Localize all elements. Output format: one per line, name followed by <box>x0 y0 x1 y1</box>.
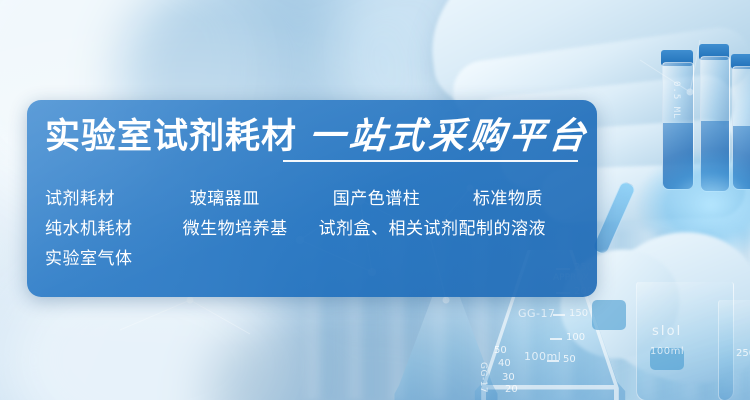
headline-underline <box>283 160 578 162</box>
category-item-lab-gases[interactable]: 实验室气体 <box>45 247 200 271</box>
headline-main-text: 实验室试剂耗材 <box>45 115 297 159</box>
banner-headline: 实验室试剂耗材 一站式采购平台 <box>45 114 589 159</box>
category-row-1: 试剂耗材 玻璃器皿 国产色谱柱 标准物质 <box>45 184 585 214</box>
category-item-reagent-consumables[interactable]: 试剂耗材 <box>45 187 190 211</box>
category-row-2: 纯水机耗材 微生物培养基 试剂盒、相关试剂配制的溶液 <box>45 214 585 244</box>
category-item-glassware[interactable]: 玻璃器皿 <box>190 187 333 211</box>
category-item-domestic-chromatography-column[interactable]: 国产色谱柱 <box>333 187 473 211</box>
category-item-microbial-culture-media[interactable]: 微生物培养基 <box>183 217 319 241</box>
headline-script-text: 一站式采购平台 <box>307 114 592 158</box>
category-grid: 试剂耗材 玻璃器皿 国产色谱柱 标准物质 纯水机耗材 微生物培养基 试剂盒、相关… <box>45 184 585 274</box>
category-item-water-purifier-consumables[interactable]: 纯水机耗材 <box>45 217 183 241</box>
lab-supplies-banner: 0.5 ML 250 APPROX 200 150 100 50 GG- <box>0 0 750 400</box>
category-item-reference-materials[interactable]: 标准物质 <box>473 187 585 211</box>
promo-panel: 实验室试剂耗材 一站式采购平台 试剂耗材 玻璃器皿 国产色谱柱 标准物质 纯水机… <box>27 100 597 297</box>
category-item-kits-and-solutions[interactable]: 试剂盒、相关试剂配制的溶液 <box>319 217 585 241</box>
category-row-3: 实验室气体 <box>45 244 585 274</box>
